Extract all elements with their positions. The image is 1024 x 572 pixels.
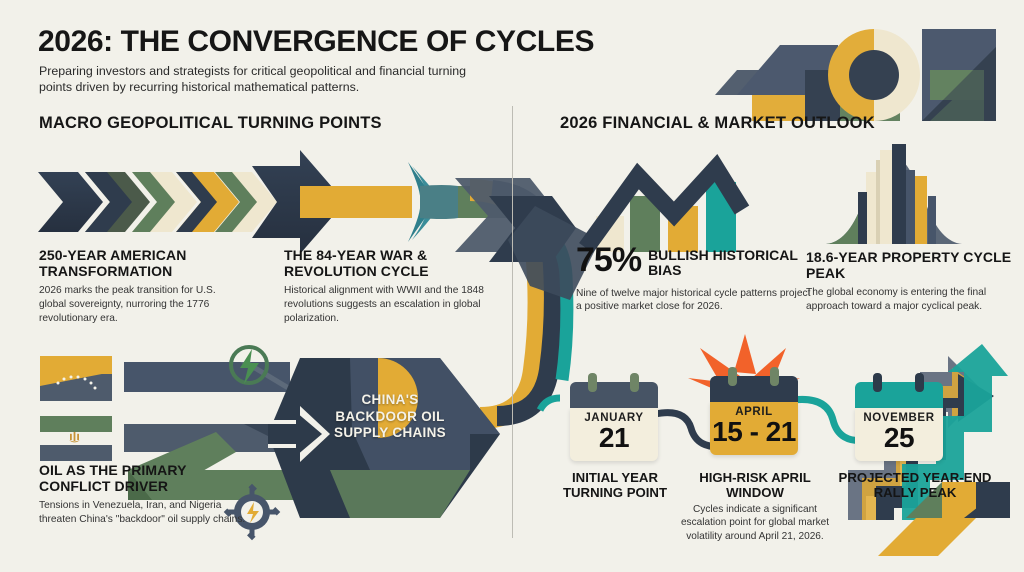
calendar-header [710, 376, 798, 402]
caption-january: INITIAL YEAR TURNING POINT [552, 470, 678, 500]
hexagon-callout-label: CHINA'S BACKDOOR OIL SUPPLY CHAINS [300, 392, 480, 442]
decor-chevron-arrow [38, 150, 520, 254]
caption-april-sub: Cycles indicate a significant escalation… [672, 503, 838, 543]
right-column-heading: 2026 FINANCIAL & MARKET OUTLOOK [560, 114, 875, 133]
calendar-january[interactable]: JANUARY 21 [570, 382, 658, 461]
iran-flag-icon [40, 416, 112, 461]
page-subtitle: Preparing investors and strategists for … [39, 63, 484, 96]
calendar-ring-left [728, 367, 737, 386]
calendar-day: 15 - 21 [710, 418, 798, 447]
stat-value: 75% [576, 246, 641, 275]
chart-property-cycle-bell [826, 144, 962, 244]
block-bullish-bias: 75% BULLISH HISTORICAL BIAS Nine of twel… [576, 246, 826, 314]
block-body: Nine of twelve major historical cycle pa… [576, 287, 812, 314]
block-heading: 250-YEAR AMERICAN TRANSFORMATION [39, 248, 244, 279]
calendar-april[interactable]: APRIL 15 - 21 [710, 376, 798, 455]
decor-topright [715, 29, 996, 121]
block-body: Tensions in Venezuela, Iran, and Nigeria… [39, 499, 247, 526]
caption-november: PROJECTED YEAR-END RALLY PEAK [832, 470, 998, 500]
calendar-november[interactable]: NOVEMBER 25 [855, 382, 943, 461]
calendar-header [570, 382, 658, 408]
column-divider [512, 106, 513, 538]
hexagon-label-line3: SUPPLY CHAINS [300, 425, 480, 442]
calendar-ring-left [588, 373, 597, 392]
block-heading: 18.6-YEAR PROPERTY CYCLE PEAK [806, 250, 1012, 281]
block-property-cycle-peak: 18.6-YEAR PROPERTY CYCLE PEAK The global… [806, 250, 1012, 314]
calendar-day: 21 [570, 424, 658, 453]
caption-april: HIGH-RISK APRIL WINDOW [686, 470, 824, 500]
calendar-ring-right [630, 373, 639, 392]
block-body: Historical alignment with WWII and the 1… [284, 284, 489, 325]
calendar-ring-right [915, 373, 924, 392]
page-title: 2026: THE CONVERGENCE OF CYCLES [38, 26, 594, 58]
calendar-ring-right [770, 367, 779, 386]
calendar-header [855, 382, 943, 408]
block-heading: THE 84-YEAR WAR & REVOLUTION CYCLE [284, 248, 489, 279]
hexagon-label-line2: BACKDOOR OIL [300, 409, 480, 426]
block-heading: OIL AS THE PRIMARY CONFLICT DRIVER [39, 463, 247, 494]
chart-zigzag-bars [586, 168, 742, 252]
calendar-body: JANUARY 21 [570, 408, 658, 461]
block-body: The global economy is entering the final… [806, 286, 1012, 313]
block-american-transformation: 250-YEAR AMERICAN TRANSFORMATION 2026 ma… [39, 248, 244, 325]
block-oil-conflict-driver: OIL AS THE PRIMARY CONFLICT DRIVER Tensi… [39, 463, 247, 527]
energy-bolt-icon [231, 347, 267, 384]
calendar-day: 25 [855, 424, 943, 453]
infographic-canvas: 2026: THE CONVERGENCE OF CYCLES Preparin… [0, 0, 1024, 572]
left-column-heading: MACRO GEOPOLITICAL TURNING POINTS [39, 114, 382, 133]
calendar-ring-left [873, 373, 882, 392]
venezuela-flag-icon [40, 356, 112, 401]
block-body: 2026 marks the peak transition for U.S. … [39, 284, 244, 325]
calendar-body: APRIL 15 - 21 [710, 402, 798, 455]
calendar-body: NOVEMBER 25 [855, 408, 943, 461]
hexagon-label-line1: CHINA'S [300, 392, 480, 409]
stat-label: BULLISH HISTORICAL BIAS [648, 246, 826, 279]
block-war-revolution-cycle: THE 84-YEAR WAR & REVOLUTION CYCLE Histo… [284, 248, 489, 325]
